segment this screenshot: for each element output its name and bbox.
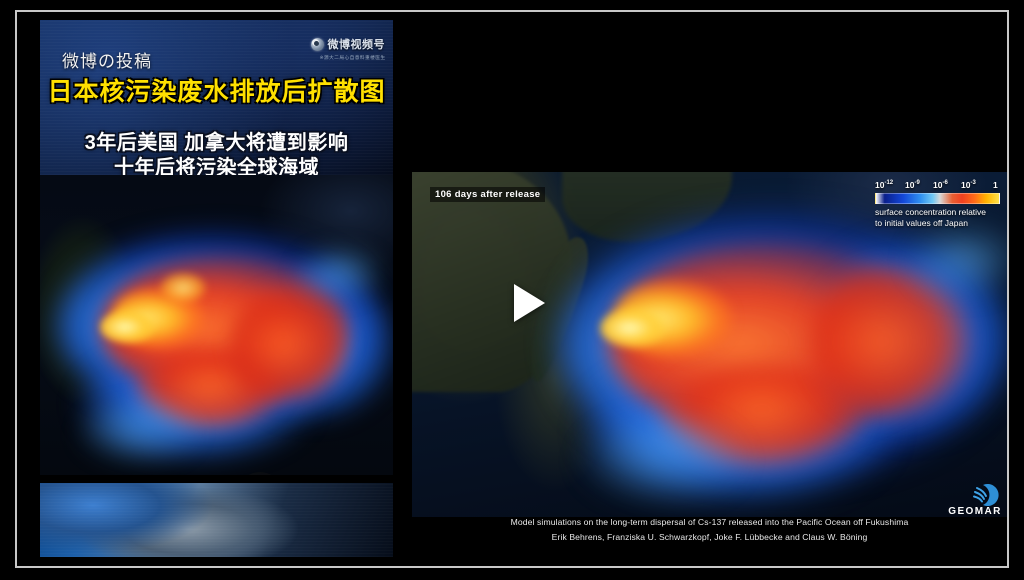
geomar-logo: GEOMAR bbox=[937, 482, 1007, 517]
right-dispersal-map: 106 days after release 10-12 10-9 10-6 1… bbox=[412, 172, 1007, 517]
legend-tick-labels: 10-12 10-9 10-6 10-3 1 bbox=[875, 180, 1000, 193]
left-bottom-gradient-strip bbox=[40, 483, 393, 557]
left-dispersal-map: 微博の投稿 bbox=[40, 175, 393, 475]
play-icon[interactable] bbox=[514, 284, 545, 322]
credits-line-1: Model simulations on the long-term dispe… bbox=[412, 517, 1007, 527]
legend-tick-1: 10-9 bbox=[905, 180, 920, 190]
days-after-release-label: 106 days after release bbox=[430, 187, 545, 202]
legend-tick-0: 10-12 bbox=[875, 180, 893, 190]
legend-color-bar bbox=[875, 193, 1000, 204]
right-video-panel[interactable]: 106 days after release 10-12 10-9 10-6 1… bbox=[412, 172, 1007, 517]
legend-tick-4: 1 bbox=[993, 180, 998, 190]
screenshot-root: 微博の投稿 微博视频号 ※源大二局心自意料重楼医生 日本核污染废水排放后扩散图 … bbox=[0, 0, 1024, 580]
left-title-banner: 微博の投稿 微博视频号 ※源大二局心自意料重楼医生 日本核污染废水排放后扩散图 … bbox=[40, 20, 393, 175]
left-plume-overlay bbox=[40, 175, 393, 475]
legend-tick-3: 10-3 bbox=[961, 180, 976, 190]
credits-block: Model simulations on the long-term dispe… bbox=[412, 517, 1007, 542]
headline-text: 日本核污染废水排放后扩散图 bbox=[40, 72, 393, 108]
weibo-eye-icon bbox=[311, 38, 324, 51]
video-stage: 微博の投稿 微博视频号 ※源大二局心自意料重楼医生 日本核污染废水排放后扩散图 … bbox=[17, 12, 1007, 566]
credits-line-2: Erik Behrens, Franziska U. Schwarzkopf, … bbox=[412, 532, 1007, 542]
subline-2: 十年后将污染全球海域 bbox=[40, 151, 393, 175]
geomar-wave-icon bbox=[937, 482, 1007, 508]
weibo-watermark-name: 微博视频号 bbox=[328, 36, 386, 52]
legend-caption: surface concentration relative to initia… bbox=[875, 207, 1000, 228]
weibo-handle-label: 微博の投稿 bbox=[62, 47, 152, 72]
legend-caption-line1: surface concentration relative bbox=[875, 207, 1000, 218]
weibo-watermark-subtext: ※源大二局心自意料重楼医生 bbox=[314, 54, 385, 61]
concentration-legend: 10-12 10-9 10-6 10-3 1 surface concentra… bbox=[875, 180, 1000, 228]
left-video-panel[interactable]: 微博の投稿 微博视频号 ※源大二局心自意料重楼医生 日本核污染废水排放后扩散图 … bbox=[40, 17, 393, 557]
legend-tick-2: 10-6 bbox=[933, 180, 948, 190]
weibo-watermark: 微博视频号 ※源大二局心自意料重楼医生 bbox=[311, 36, 386, 61]
legend-caption-line2: to initial values off Japan bbox=[875, 218, 1000, 229]
